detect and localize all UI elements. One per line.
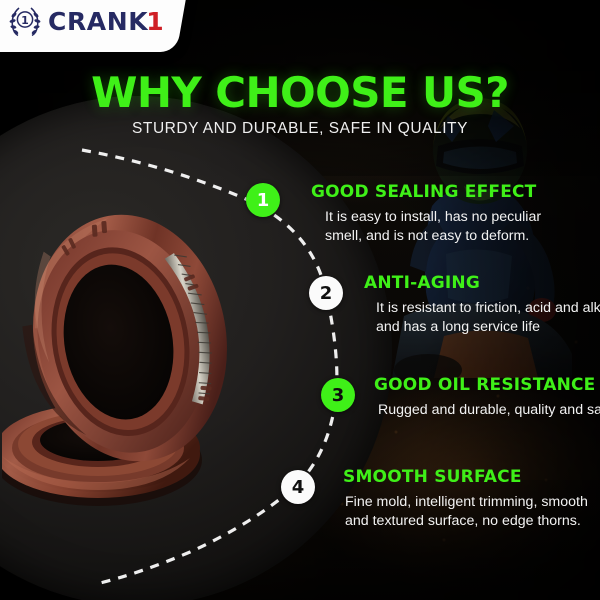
feature-bullet-2: 2 [309, 276, 343, 310]
feature-body-2: It is resistant to friction, acid and al… [376, 299, 600, 337]
feature-title-4: SMOOTH SURFACE [343, 468, 600, 487]
feature-body-1: It is easy to install, has no peculiar s… [325, 208, 571, 246]
laurel-wreath-icon: 1 [8, 4, 42, 38]
feature-title-1: GOOD SEALING EFFECT [311, 183, 571, 202]
feature-bullet-4: 4 [281, 470, 315, 504]
page-title: WHY CHOOSE US? [0, 72, 600, 114]
oil-seal-product-image [2, 188, 264, 518]
feature-body-4: Fine mold, intelligent trimming, smooth … [345, 493, 600, 531]
feature-body-3: Rugged and durable, quality and safe. [378, 401, 600, 420]
brand-logo-banner[interactable]: 1 CRANK1 [0, 0, 187, 52]
why-choose-us-infographic: WHY CHOOSE US? STURDY AND DURABLE, SAFE … [0, 0, 600, 600]
feature-title-2: ANTI-AGING [364, 274, 600, 293]
brand-accent-one: 1 [146, 9, 164, 34]
feature-bullet-1: 1 [246, 183, 280, 217]
page-subtitle: STURDY AND DURABLE, SAFE IN QUALITY [0, 120, 600, 138]
brand-name: CRANK [48, 9, 148, 34]
feature-title-3: GOOD OIL RESISTANCE [374, 376, 600, 395]
brand-wordmark: CRANK1 [48, 9, 164, 34]
feature-bullet-3: 3 [321, 378, 355, 412]
wreath-number: 1 [21, 14, 29, 27]
